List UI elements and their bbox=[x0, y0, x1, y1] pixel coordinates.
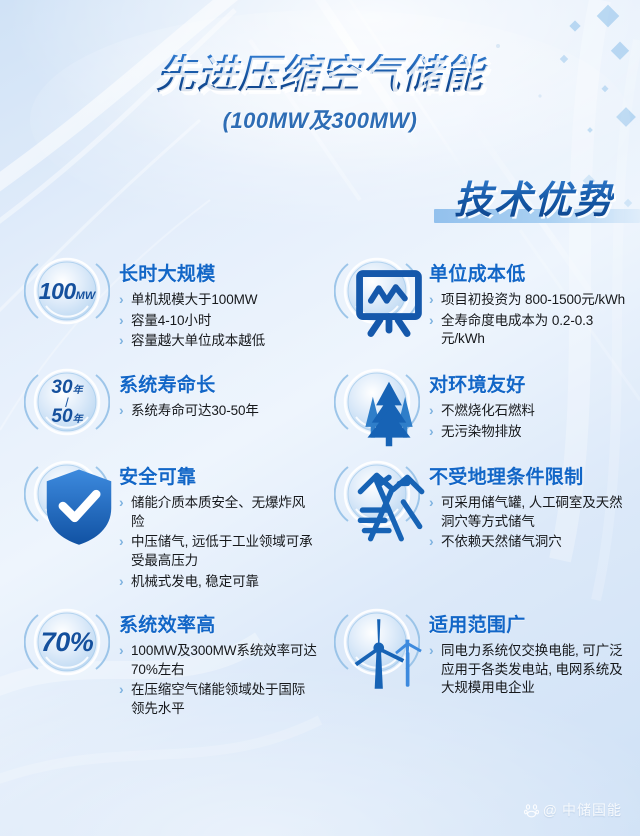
badge-safe-reliable bbox=[24, 451, 110, 537]
badge-value: 70 bbox=[41, 627, 70, 657]
bullet-item: 中压储气, 远低于工业领域可承受最高压力 bbox=[119, 533, 318, 570]
feature-text-block: 系统效率高 100MW及300MW系统效率可达70%左右 在压缩空气储能领域处于… bbox=[119, 599, 318, 721]
feature-bullets: 系统寿命可达30-50年 bbox=[119, 402, 318, 421]
cavern-storage-icon bbox=[346, 463, 408, 525]
badge-wide-application bbox=[334, 599, 420, 685]
bullet-item: 机械式发电, 稳定可靠 bbox=[119, 573, 318, 592]
bullet-item: 无污染物排放 bbox=[429, 423, 626, 442]
bullet-item: 容量越大单位成本越低 bbox=[119, 332, 318, 351]
badge-100mw: 100MW bbox=[24, 248, 110, 334]
bullet-item: 在压缩空气储能领域处于国际领先水平 bbox=[119, 681, 318, 718]
bullet-item: 单机规模大于100MW bbox=[119, 291, 318, 310]
badge-70-percent-content: 70% bbox=[36, 611, 98, 673]
feature-title: 对环境友好 bbox=[429, 370, 626, 397]
bullet-item: 不依赖天然储气洞穴 bbox=[429, 533, 626, 552]
shield-check-icon bbox=[36, 463, 98, 525]
feature-bullets: 不燃烧化石燃料 无污染物排放 bbox=[429, 402, 626, 441]
badge-value: 100 bbox=[39, 278, 76, 304]
badge-years-50: 50 bbox=[51, 406, 72, 427]
feature-long-system-life: 30年 / 50年 系统寿命长 系统寿命可达30-50年 bbox=[16, 359, 318, 445]
page-content: 先进压缩空气储能 (100MW及300MW) 技术优势 bbox=[0, 0, 640, 727]
chart-easel-icon bbox=[346, 260, 408, 322]
feature-low-unit-cost: 单位成本低 项目初投资为 800-1500元/kWh 全寿命度电成本为 0.2-… bbox=[324, 248, 626, 353]
header: 先进压缩空气储能 (100MW及300MW) 技术优势 bbox=[0, 0, 640, 224]
pine-tree-icon bbox=[346, 371, 408, 433]
feature-title: 适用范围广 bbox=[429, 610, 626, 637]
bullet-item: 容量4-10小时 bbox=[119, 312, 318, 331]
feature-no-geographic-limit: 不受地理条件限制 可采用储气罐, 人工硐室及天然洞穴等方式储气 不依赖天然储气洞… bbox=[324, 451, 626, 593]
bullet-item: 100MW及300MW系统效率可达70%左右 bbox=[119, 642, 318, 679]
badge-30-50-content: 30年 / 50年 bbox=[36, 371, 98, 433]
page-subtitle: (100MW及300MW) bbox=[0, 103, 640, 135]
badge-years-30: 30 bbox=[51, 377, 72, 398]
page-title: 先进压缩空气储能 bbox=[0, 54, 640, 97]
features-grid: 100MW 长时大规模 单机规模大于100MW 容量4-10小时 容量越大单位成… bbox=[0, 248, 640, 727]
feature-wide-application: 适用范围广 同电力系统仅交换电能, 可广泛应用于各类发电站, 电网系统及大规模用… bbox=[324, 599, 626, 721]
bullet-item: 全寿命度电成本为 0.2-0.3元/kWh bbox=[429, 312, 626, 349]
badge-low-unit-cost bbox=[334, 248, 420, 334]
badge-years-30-unit: 年 bbox=[73, 385, 83, 396]
badge-line-2: 50年 bbox=[51, 407, 82, 426]
feature-text-block: 单位成本低 项目初投资为 800-1500元/kWh 全寿命度电成本为 0.2-… bbox=[429, 248, 626, 351]
bullet-item: 可采用储气罐, 人工硐室及天然洞穴等方式储气 bbox=[429, 494, 626, 531]
feature-title: 单位成本低 bbox=[429, 259, 626, 286]
badge-environment-friendly bbox=[334, 359, 420, 445]
badge-no-geographic-limit bbox=[334, 451, 420, 537]
watermark: @ 中储国能 bbox=[524, 800, 622, 820]
bullet-item: 系统寿命可达30-50年 bbox=[119, 402, 318, 421]
watermark-text: 中储国能 bbox=[562, 800, 622, 820]
feature-text-block: 对环境友好 不燃烧化石燃料 无污染物排放 bbox=[429, 359, 626, 443]
feature-title: 系统寿命长 bbox=[119, 370, 318, 397]
feature-bullets: 可采用储气罐, 人工硐室及天然洞穴等方式储气 不依赖天然储气洞穴 bbox=[429, 494, 626, 552]
feature-title: 长时大规模 bbox=[119, 259, 318, 286]
feature-bullets: 单机规模大于100MW 容量4-10小时 容量越大单位成本越低 bbox=[119, 291, 318, 351]
bullet-item: 同电力系统仅交换电能, 可广泛应用于各类发电站, 电网系统及大规模用电企业 bbox=[429, 642, 626, 698]
bullet-item: 不燃烧化石燃料 bbox=[429, 402, 626, 421]
feature-title: 不受地理条件限制 bbox=[429, 462, 626, 489]
bullet-item: 项目初投资为 800-1500元/kWh bbox=[429, 291, 626, 310]
feature-text-block: 系统寿命长 系统寿命可达30-50年 bbox=[119, 359, 318, 423]
feature-safe-reliable: 安全可靠 储能介质本质安全、无爆炸风险 中压储气, 远低于工业领域可承受最高压力… bbox=[16, 451, 318, 593]
badge-100mw-content: 100MW bbox=[36, 260, 98, 322]
feature-text-block: 安全可靠 储能介质本质安全、无爆炸风险 中压储气, 远低于工业领域可承受最高压力… bbox=[119, 451, 318, 593]
section-heading-label: 技术优势 bbox=[454, 169, 614, 224]
feature-bullets: 同电力系统仅交换电能, 可广泛应用于各类发电站, 电网系统及大规模用电企业 bbox=[429, 642, 626, 698]
feature-bullets: 项目初投资为 800-1500元/kWh 全寿命度电成本为 0.2-0.3元/k… bbox=[429, 291, 626, 349]
badge-unit: MW bbox=[76, 290, 96, 302]
wind-turbine-icon bbox=[346, 611, 408, 673]
feature-bullets: 100MW及300MW系统效率可达70%左右 在压缩空气储能领域处于国际领先水平 bbox=[119, 642, 318, 719]
feature-text-block: 不受地理条件限制 可采用储气罐, 人工硐室及天然洞穴等方式储气 不依赖天然储气洞… bbox=[429, 451, 626, 554]
badge-30-50-years: 30年 / 50年 bbox=[24, 359, 110, 445]
feature-bullets: 储能介质本质安全、无爆炸风险 中压储气, 远低于工业领域可承受最高压力 机械式发… bbox=[119, 494, 318, 591]
feature-title: 系统效率高 bbox=[119, 610, 318, 637]
section-heading: 技术优势 bbox=[434, 169, 640, 224]
feature-high-system-efficiency: 70% 系统效率高 100MW及300MW系统效率可达70%左右 在压缩空气储能… bbox=[16, 599, 318, 721]
bullet-item: 储能介质本质安全、无爆炸风险 bbox=[119, 494, 318, 531]
badge-years-50-unit: 年 bbox=[73, 414, 83, 425]
feature-text-block: 适用范围广 同电力系统仅交换电能, 可广泛应用于各类发电站, 电网系统及大规模用… bbox=[429, 599, 626, 700]
feature-text-block: 长时大规模 单机规模大于100MW 容量4-10小时 容量越大单位成本越低 bbox=[119, 248, 318, 353]
feature-environment-friendly: 对环境友好 不燃烧化石燃料 无污染物排放 bbox=[324, 359, 626, 445]
badge-unit: % bbox=[70, 627, 94, 657]
feature-long-duration-large-scale: 100MW 长时大规模 单机规模大于100MW 容量4-10小时 容量越大单位成… bbox=[16, 248, 318, 353]
feature-title: 安全可靠 bbox=[119, 462, 318, 489]
baidu-paw-icon bbox=[524, 803, 539, 818]
badge-70-percent: 70% bbox=[24, 599, 110, 685]
watermark-at: @ bbox=[543, 802, 558, 818]
